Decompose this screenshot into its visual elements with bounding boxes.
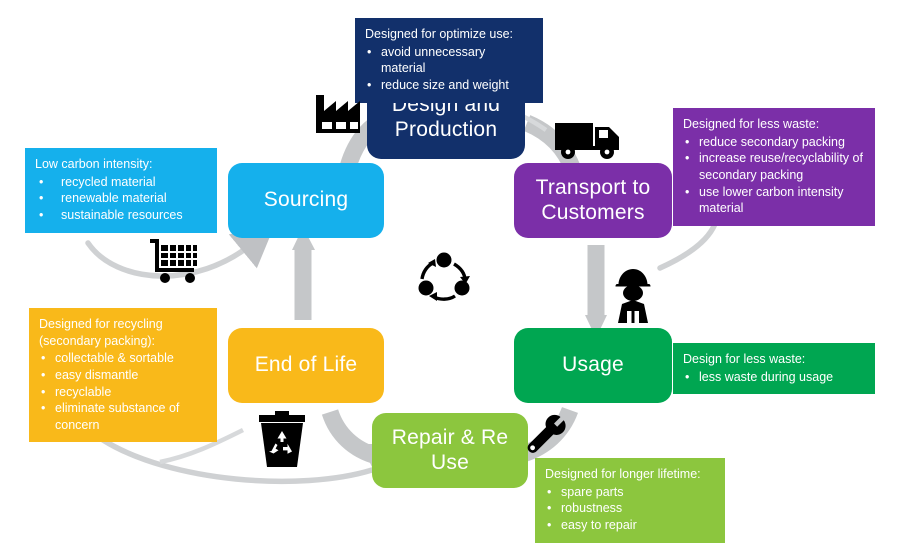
callout-list: reduce secondary packing increase reuse/… bbox=[683, 134, 865, 217]
callout-transport: Designed for less waste: reduce secondar… bbox=[673, 108, 875, 226]
callout-list: recycled material renewable material sus… bbox=[35, 174, 207, 224]
callout-list: less waste during usage bbox=[683, 369, 865, 386]
wrench-icon bbox=[524, 413, 574, 463]
callout-item: eliminate substance of concern bbox=[39, 400, 207, 433]
callout-item: sustainable resources bbox=[35, 207, 207, 224]
delivery-truck-icon bbox=[553, 115, 625, 161]
stage-label-line1: End of Life bbox=[255, 353, 358, 378]
callout-item: reduce secondary packing bbox=[683, 134, 865, 151]
callout-item: recycled material bbox=[35, 174, 207, 191]
callout-item: use lower carbon intensity material bbox=[683, 184, 865, 217]
stage-end-of-life[interactable]: End of Life bbox=[228, 328, 384, 403]
stage-label-line2: Use bbox=[392, 451, 509, 476]
callout-item: less waste during usage bbox=[683, 369, 865, 386]
callout-title: Design for less waste: bbox=[683, 351, 865, 368]
callout-item: recyclable bbox=[39, 384, 207, 401]
callout-item: robustness bbox=[545, 500, 715, 517]
stage-sourcing[interactable]: Sourcing bbox=[228, 163, 384, 238]
stage-repair-and-re-use[interactable]: Repair & Re Use bbox=[372, 413, 528, 488]
callout-item: spare parts bbox=[545, 484, 715, 501]
callout-item: increase reuse/recyclability of secondar… bbox=[683, 150, 865, 183]
callout-title: Low carbon intensity: bbox=[35, 156, 207, 173]
callout-usage: Design for less waste: less waste during… bbox=[673, 343, 875, 394]
circular-recycle-arrows-icon bbox=[413, 248, 475, 310]
callout-end-of-life: Designed for recycling (secondary packin… bbox=[29, 308, 217, 442]
shopping-cart-icon bbox=[148, 237, 204, 285]
callout-item: avoid unnecessary material bbox=[365, 44, 533, 77]
stage-label-line1: Repair & Re bbox=[392, 426, 509, 451]
callout-list: avoid unnecessary material reduce size a… bbox=[365, 44, 533, 94]
callout-design: Designed for optimize use: avoid unneces… bbox=[355, 18, 543, 103]
callout-title: Designed for recycling (secondary packin… bbox=[39, 316, 207, 349]
callout-list: collectable & sortable easy dismantle re… bbox=[39, 350, 207, 433]
circular-economy-diagram: Design and Production Sourcing Transport… bbox=[0, 0, 900, 550]
stage-label-line1: Transport to bbox=[536, 176, 651, 201]
callout-title: Designed for less waste: bbox=[683, 116, 865, 133]
callout-list: spare parts robustness easy to repair bbox=[545, 484, 715, 534]
callout-title: Designed for optimize use: bbox=[365, 26, 533, 43]
stage-label-line1: Usage bbox=[562, 353, 624, 378]
factory-icon bbox=[312, 87, 368, 135]
callout-item: renewable material bbox=[35, 190, 207, 207]
recycle-bin-icon bbox=[251, 411, 313, 469]
callout-repair: Designed for longer lifetime: spare part… bbox=[535, 458, 725, 543]
stage-transport-to-customers[interactable]: Transport to Customers bbox=[514, 163, 672, 238]
callout-item: easy to repair bbox=[545, 517, 715, 534]
stage-usage[interactable]: Usage bbox=[514, 328, 672, 403]
stage-label-line1: Sourcing bbox=[264, 188, 348, 213]
callout-item: reduce size and weight bbox=[365, 77, 533, 94]
callout-item: easy dismantle bbox=[39, 367, 207, 384]
callout-title: Designed for longer lifetime: bbox=[545, 466, 715, 483]
callout-sourcing: Low carbon intensity: recycled material … bbox=[25, 148, 217, 233]
stage-label-line2: Production bbox=[392, 118, 500, 143]
callout-item: collectable & sortable bbox=[39, 350, 207, 367]
construction-worker-icon bbox=[603, 267, 663, 323]
stage-label-line2: Customers bbox=[536, 201, 651, 226]
